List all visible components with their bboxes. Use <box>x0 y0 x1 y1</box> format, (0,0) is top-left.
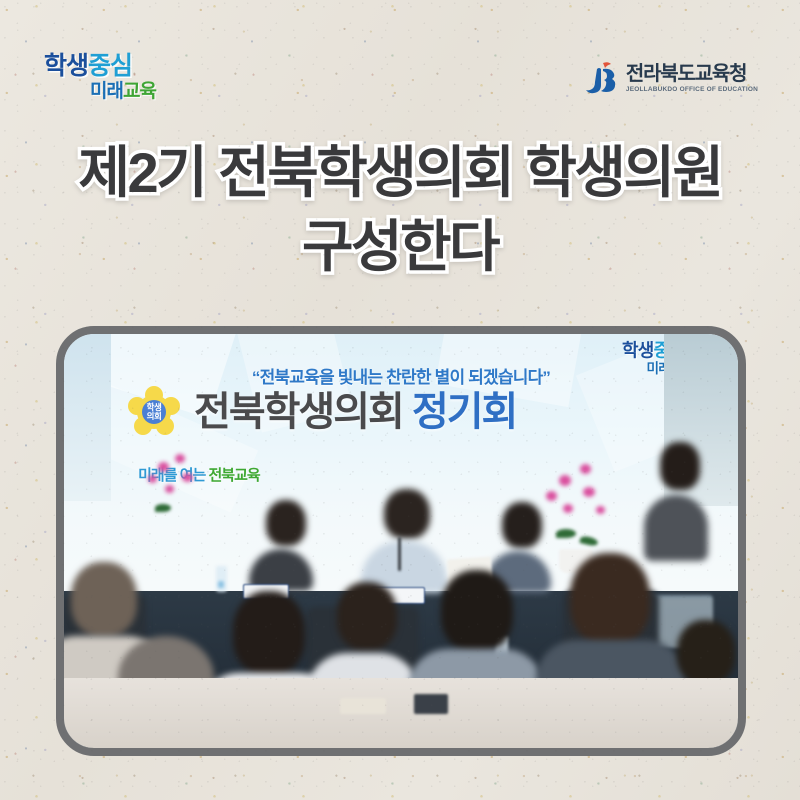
jb-logo-english: JEOLLABUKDO OFFICE OF EDUCATION <box>626 87 758 94</box>
logo-left-line2: 미래교육 <box>90 82 214 101</box>
logo-left-line1: 학생중심 <box>44 54 214 79</box>
banner-headline: 학생 의회 전북학생의회 정기회 <box>128 386 516 438</box>
jb-logo-korean: 전라북도교육청 <box>626 64 758 84</box>
student-council-emblem-icon: 학생 의회 <box>128 386 180 438</box>
logo-left-line2-b: 교육 <box>123 81 156 102</box>
front-table <box>64 678 738 748</box>
banner-subtext-b: 전북교육 <box>208 467 259 484</box>
emblem-line-2: 의회 <box>147 412 162 421</box>
page-title: 제2기 전북학생의회 학생의원 구성한다 <box>0 136 800 285</box>
front-notebook <box>340 698 386 714</box>
banner-title-accent: 정기회 <box>412 390 516 434</box>
event-photo-frame: “전북교육을 빛내는 찬란한 별이 되겠습니다” 학생 <box>56 326 746 756</box>
logo-left-line1-b: 중심 <box>88 52 132 80</box>
jb-emblem-icon <box>583 60 619 98</box>
jb-logo-text: 전라북도교육청 JEOLLABUKDO OFFICE OF EDUCATION <box>626 64 758 94</box>
logo-left-line2-a: 미래 <box>90 81 123 102</box>
event-photo: “전북교육을 빛내는 찬란한 별이 되겠습니다” 학생 <box>64 334 738 748</box>
banner-title-main: 전북학생의회 <box>194 390 403 434</box>
poster-card: 학생중심 미래교육 전라북도교육청 JEOLLABUKDO OFFICE OF … <box>0 0 800 800</box>
logo-left-line1-a: 학생 <box>44 52 88 80</box>
student-centered-future-education-logo: 학생중심 미래교육 <box>44 54 214 108</box>
title-line-1: 제2기 전북학생의회 학생의원 <box>0 136 800 210</box>
banner-subtext: 미래를 여는 전북교육 <box>138 464 260 485</box>
banner-logo-line1-a: 학생 <box>622 340 654 360</box>
jeollabukdo-office-of-education-logo: 전라북도교육청 JEOLLABUKDO OFFICE OF EDUCATION <box>583 60 758 98</box>
left-wall <box>64 334 111 501</box>
title-line-2: 구성한다 <box>0 210 800 284</box>
water-bottle-1 <box>216 566 227 592</box>
front-device <box>414 694 448 714</box>
banner-title: 전북학생의회 정기회 <box>194 392 516 432</box>
